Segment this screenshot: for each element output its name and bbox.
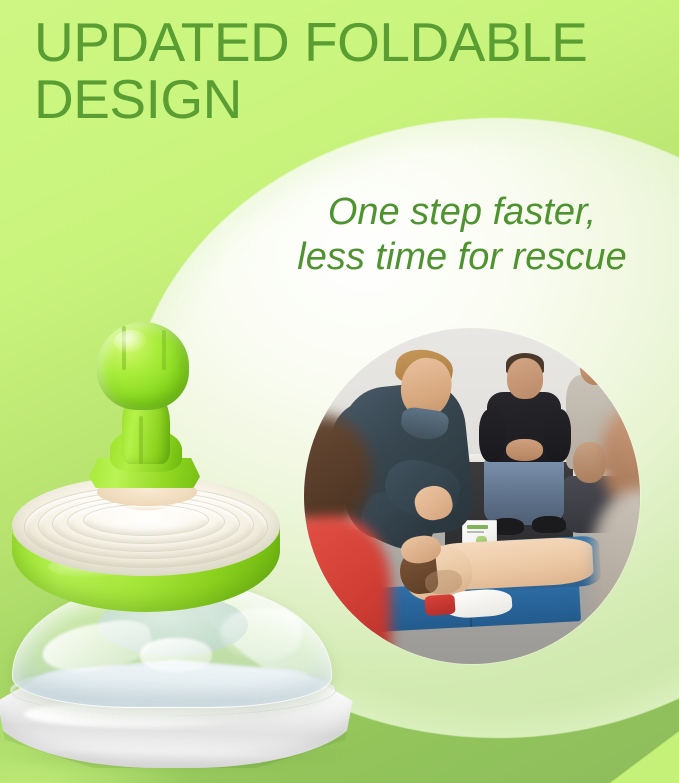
photo-student-arm-right <box>544 409 571 463</box>
photo-student-legs <box>484 457 565 524</box>
product-knob-highlight <box>114 330 148 354</box>
photo-student-shoe-right <box>532 516 566 533</box>
product-marketing-poster: UPDATED FOLDABLE DESIGN One step faster,… <box>0 0 679 783</box>
product-plunger-neck-seam <box>139 416 143 464</box>
product-knob-seam-right <box>162 330 166 370</box>
photo-student-right-head <box>580 352 610 386</box>
product-bellows-ring-5 <box>83 504 209 536</box>
photo-student-hands <box>506 439 543 461</box>
tagline: One step faster, less time for rescue <box>262 190 662 280</box>
photo-product-box-text <box>467 531 484 533</box>
product-dome-highlight-center <box>140 638 212 672</box>
photo-manikin-red-item <box>424 594 456 616</box>
page-title: UPDATED FOLDABLE DESIGN <box>34 14 664 128</box>
photo-student-arm-left <box>479 409 506 463</box>
foldable-cpr-device <box>0 308 374 768</box>
photo-student-head <box>507 358 542 398</box>
product-dome-highlight-right <box>220 608 302 660</box>
photo-product-box-logo <box>467 525 488 528</box>
background-corner-wedge-right <box>569 703 679 783</box>
